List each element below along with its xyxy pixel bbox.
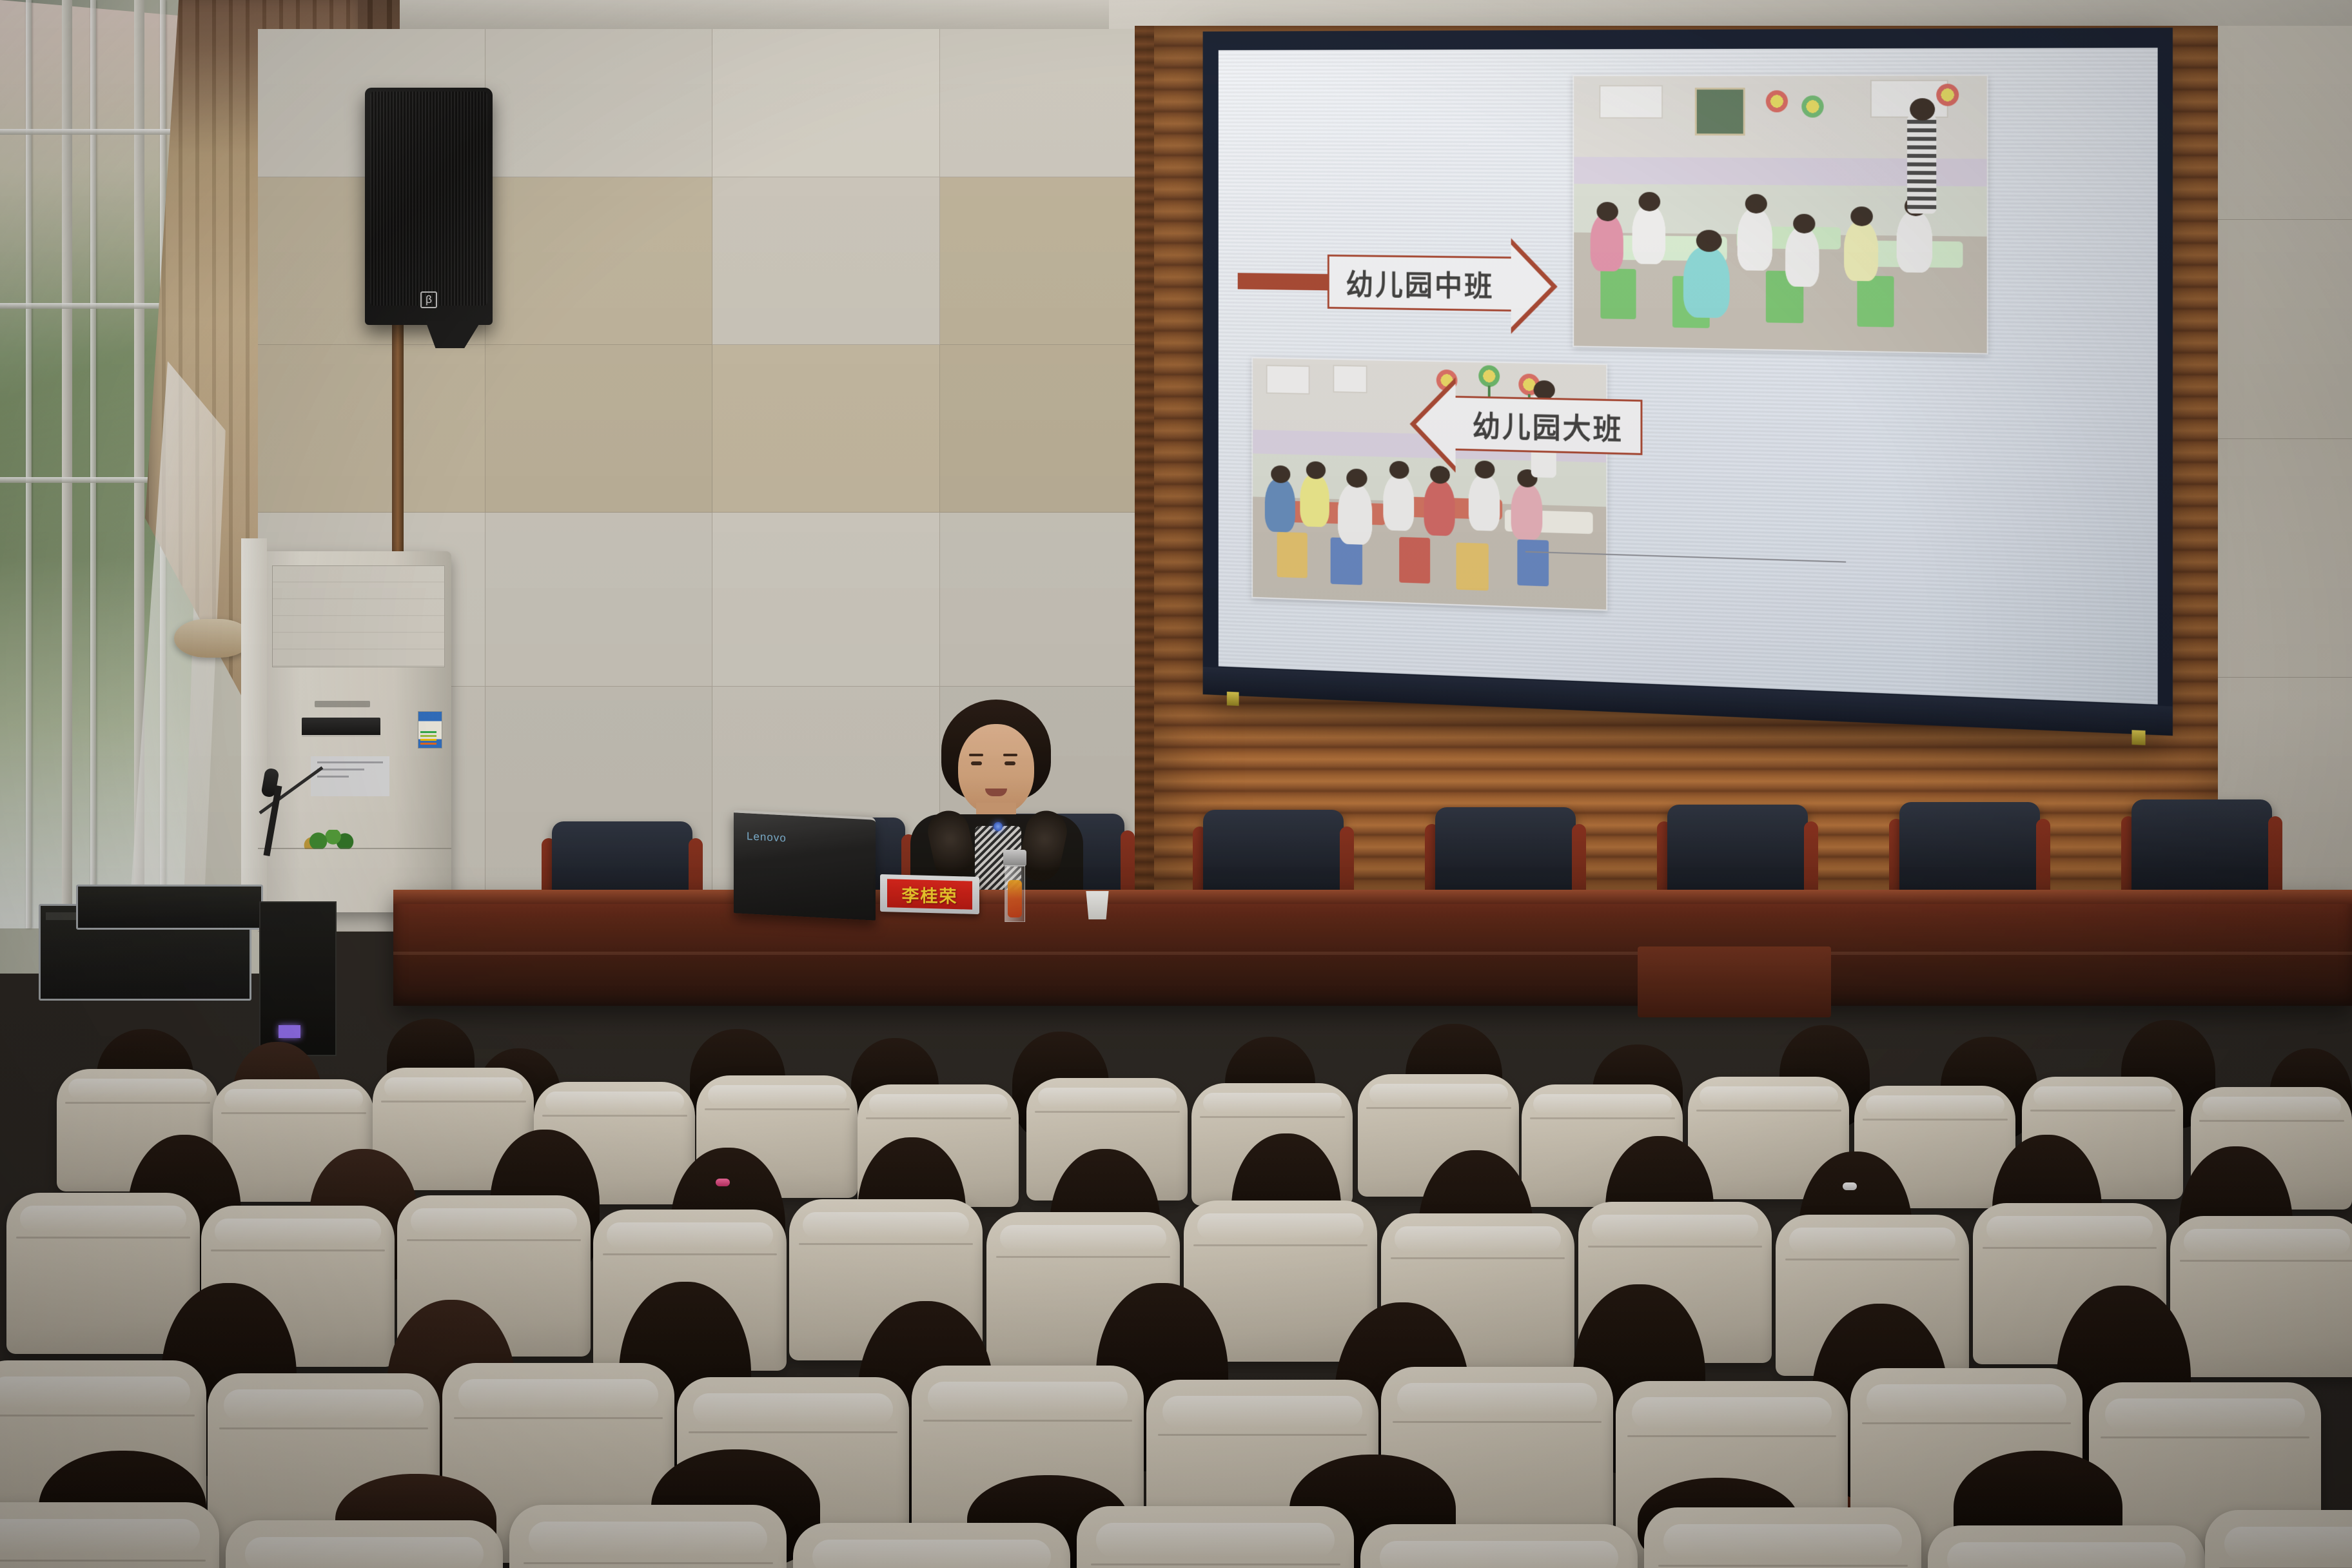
ac-display-panel[interactable] (302, 718, 380, 737)
air-conditioner[interactable] (258, 551, 451, 912)
audience-seat[interactable] (793, 1523, 1070, 1568)
curtain-tieback (174, 619, 251, 658)
nameplate: 李桂荣 (880, 874, 979, 914)
ac-panel-seam (258, 848, 451, 849)
window-security-bar (26, 0, 32, 928)
audience-seat[interactable] (1644, 1507, 1921, 1568)
head-table-top-edge (393, 890, 2352, 904)
screen-tension-tab (1227, 692, 1239, 706)
ac-side-column (241, 538, 267, 912)
audience-seat[interactable] (0, 1502, 219, 1568)
ac-air-vent (272, 565, 445, 667)
slide-photo-kindergarten-middle-class (1573, 75, 1988, 355)
presenter-face (958, 724, 1034, 814)
laptop-brand-logo: Lenovo (747, 830, 787, 845)
audience-seat[interactable] (226, 1520, 503, 1568)
screen-tension-tab (2131, 730, 2145, 745)
thermos-bottle[interactable] (1002, 850, 1028, 922)
arrow-kindergarten-senior-class: 幼儿园大班 (1454, 396, 1643, 455)
arrow-tail (1238, 273, 1335, 290)
lapel-microphone-icon (994, 822, 1003, 831)
audience-seat[interactable] (2170, 1216, 2352, 1377)
ac-brand-logo (315, 701, 370, 707)
audience-seat[interactable] (1360, 1524, 1638, 1568)
ac-decal-icon (300, 830, 360, 849)
audience-seat[interactable] (1077, 1506, 1354, 1568)
projection-screen[interactable]: 幼儿园中班 幼儿园大班 (1203, 28, 2173, 736)
window-security-bar (90, 0, 96, 928)
laptop[interactable]: Lenovo (734, 810, 876, 921)
audience-seating (0, 922, 2352, 1568)
conference-hall-scene: β (0, 0, 2352, 1568)
arrow-kindergarten-middle-class: 幼儿园中班 (1328, 255, 1513, 311)
audience-seat[interactable] (509, 1505, 787, 1568)
audience-seat[interactable] (2205, 1510, 2352, 1568)
speaker-brand-logo: β (420, 291, 437, 308)
hair-tie (716, 1179, 730, 1186)
ac-energy-label-icon (418, 711, 442, 749)
presentation-slide: 幼儿园中班 幼儿园大班 (1219, 48, 2158, 705)
ac-notice-paper (311, 756, 389, 796)
arrow-label-middle-class: 幼儿园中班 (1346, 261, 1494, 304)
arrow-label-senior-class: 幼儿园大班 (1473, 403, 1623, 448)
nameplate-text: 李桂荣 (887, 879, 972, 909)
audience-seat[interactable] (1928, 1525, 2205, 1568)
paper-cup[interactable] (1084, 891, 1110, 919)
hair-tie (1843, 1182, 1857, 1190)
window-mullion (62, 0, 72, 928)
speaker-grill-icon (370, 92, 487, 306)
pa-speaker: β (365, 88, 493, 325)
projection-screen-surface: 幼儿园中班 幼儿园大班 (1219, 48, 2158, 705)
